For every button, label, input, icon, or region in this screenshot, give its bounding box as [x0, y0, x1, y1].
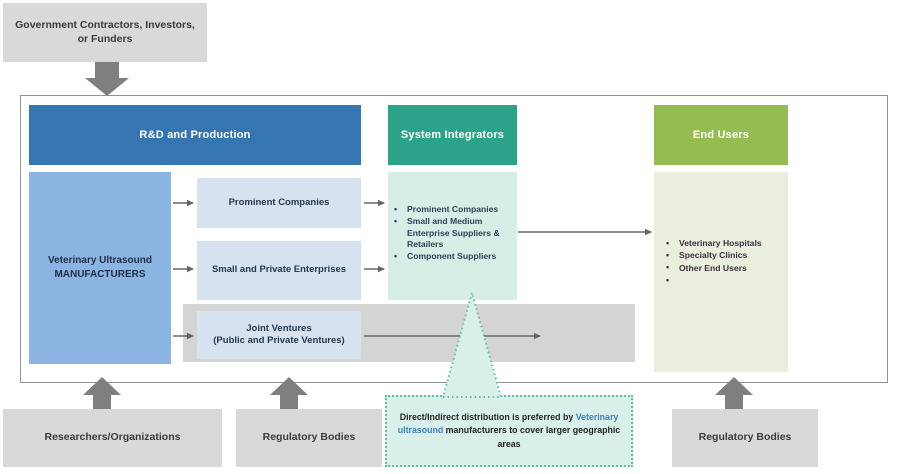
stakeholder-label: Researchers/Organizations: [45, 431, 181, 445]
end-users-panel: Veterinary HospitalsSpecialty ClinicsOth…: [654, 172, 788, 372]
channel-box-small-and-private-enterprises: Small and Private Enterprises: [197, 241, 361, 300]
column-header-rd-and-production: R&D and Production: [29, 105, 361, 165]
callout-text-part1: Direct/Indirect distribution is preferre…: [400, 412, 576, 422]
end-users-list-item: Veterinary Hospitals: [664, 238, 784, 249]
channel-label: Prominent Companies: [229, 197, 330, 209]
joint-ventures-line2: (Public and Private Ventures): [213, 335, 344, 347]
column-header-system-integrators: System Integrators: [388, 105, 517, 165]
manufacturers-line1: Veterinary Ultrasound: [48, 254, 152, 269]
system-integrators-list: Prominent CompaniesSmall and Medium Ente…: [392, 204, 513, 263]
manufacturers-line2: MANUFACTURERS: [48, 268, 152, 283]
stakeholder-box-government-contractors: Government Contractors, Investors, or Fu…: [3, 3, 207, 62]
column-header-label: R&D and Production: [139, 128, 250, 142]
stakeholder-box-regulatory-bodies-left: Regulatory Bodies: [236, 409, 382, 467]
end-users-list-item: [664, 275, 784, 286]
column-header-label: System Integrators: [401, 128, 504, 142]
block-arrow-down-top: [85, 62, 129, 96]
joint-ventures-line1: Joint Ventures: [213, 323, 344, 335]
end-users-list: Veterinary HospitalsSpecialty ClinicsOth…: [664, 238, 784, 286]
channel-box-prominent-companies: Prominent Companies: [197, 178, 361, 228]
end-users-list-item: Specialty Clinics: [664, 250, 784, 261]
end-users-list-item: Other End Users: [664, 263, 784, 274]
stakeholder-box-regulatory-bodies-right: Regulatory Bodies: [672, 409, 818, 467]
system-integrators-panel: Prominent CompaniesSmall and Medium Ente…: [388, 172, 517, 300]
stakeholder-label: Regulatory Bodies: [699, 431, 792, 445]
value-chain-diagram: Government Contractors, Investors, or Fu…: [0, 0, 900, 474]
system-integrators-list-item: Component Suppliers: [392, 251, 513, 262]
callout-text-part2: manufacturers to cover larger geographic…: [443, 425, 620, 448]
stakeholder-box-researchers-organizations: Researchers/Organizations: [3, 409, 222, 467]
channel-label: Small and Private Enterprises: [212, 264, 346, 276]
system-integrators-list-item: Prominent Companies: [392, 204, 513, 215]
column-header-label: End Users: [693, 128, 749, 142]
channel-box-joint-ventures: Joint Ventures (Public and Private Ventu…: [197, 311, 361, 359]
stakeholder-label: Government Contractors, Investors, or Fu…: [11, 19, 199, 46]
stakeholder-label: Regulatory Bodies: [263, 431, 356, 445]
column-header-end-users: End Users: [654, 105, 788, 165]
callout-distribution-note: Direct/Indirect distribution is preferre…: [385, 395, 633, 467]
system-integrators-list-item: Small and Medium Enterprise Suppliers & …: [392, 216, 513, 250]
callout-text: Direct/Indirect distribution is preferre…: [397, 411, 621, 451]
manufacturers-box: Veterinary Ultrasound MANUFACTURERS: [29, 172, 171, 364]
